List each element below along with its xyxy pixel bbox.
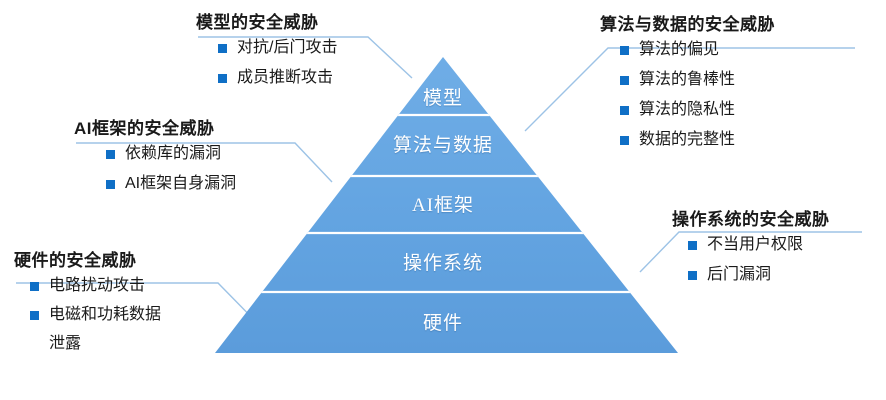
- bullet-square-icon: [620, 136, 629, 145]
- list-item: 算法的隐私性: [620, 95, 775, 125]
- list-item-label: 数据的完整性: [639, 125, 735, 155]
- list-item: 后门漏洞: [688, 260, 830, 290]
- list-item-label: 不当用户权限: [707, 230, 803, 260]
- bullet-square-icon: [620, 46, 629, 55]
- list-item: 算法的偏见: [620, 35, 775, 65]
- callout-os-items: 不当用户权限 后门漏洞: [688, 230, 830, 290]
- bullet-square-icon: [106, 180, 115, 189]
- bullet-square-icon: [688, 241, 697, 250]
- list-item-continuation: 泄露: [30, 329, 161, 358]
- bullet-square-icon: [218, 74, 227, 83]
- callout-framework-heading: AI框架的安全威胁: [74, 114, 236, 139]
- bullet-square-icon: [30, 311, 39, 320]
- list-item-label: AI框架自身漏洞: [125, 169, 236, 199]
- list-item: 算法的鲁棒性: [620, 65, 775, 95]
- bullet-square-icon: [620, 106, 629, 115]
- list-item-label: 算法的偏见: [639, 35, 719, 65]
- callout-os: 操作系统的安全威胁 不当用户权限 后门漏洞: [672, 205, 830, 290]
- list-item: 电磁和功耗数据: [30, 300, 161, 329]
- list-item-label: 依赖库的漏洞: [125, 139, 221, 169]
- callout-model-heading: 模型的安全威胁: [196, 8, 337, 33]
- list-item: 对抗/后门攻击: [218, 33, 337, 63]
- callout-model-items: 对抗/后门攻击 成员推断攻击: [218, 33, 337, 93]
- callout-hardware: 硬件的安全威胁 电路扰动攻击 电磁和功耗数据 泄露: [14, 246, 161, 358]
- list-item: AI框架自身漏洞: [106, 169, 236, 199]
- callout-framework: AI框架的安全威胁 依赖库的漏洞 AI框架自身漏洞: [74, 114, 236, 199]
- bullet-spacer: [30, 340, 39, 349]
- list-item-label: 电路扰动攻击: [49, 271, 145, 300]
- callout-algorithm: 算法与数据的安全威胁 算法的偏见 算法的鲁棒性 算法的隐私性 数据的完整性: [600, 10, 775, 155]
- callout-framework-items: 依赖库的漏洞 AI框架自身漏洞: [106, 139, 236, 199]
- list-item-label: 算法的隐私性: [639, 95, 735, 125]
- bullet-square-icon: [106, 150, 115, 159]
- list-item-label: 电磁和功耗数据: [49, 300, 161, 329]
- list-item: 依赖库的漏洞: [106, 139, 236, 169]
- bullet-square-icon: [620, 76, 629, 85]
- list-item-label: 后门漏洞: [707, 260, 771, 290]
- diagram-canvas: 模型 算法与数据 AI框架 操作系统 硬件 模型的安全威胁 对抗/后门攻击 成员…: [0, 0, 886, 400]
- callout-hardware-items: 电路扰动攻击 电磁和功耗数据 泄露: [30, 271, 161, 358]
- list-item-label: 算法的鲁棒性: [639, 65, 735, 95]
- list-item: 数据的完整性: [620, 125, 775, 155]
- list-item: 电路扰动攻击: [30, 271, 161, 300]
- bullet-square-icon: [688, 271, 697, 280]
- list-item-label: 成员推断攻击: [237, 63, 333, 93]
- callout-os-heading: 操作系统的安全威胁: [672, 205, 830, 230]
- callout-hardware-heading: 硬件的安全威胁: [14, 246, 161, 271]
- list-item: 成员推断攻击: [218, 63, 337, 93]
- list-item-label: 对抗/后门攻击: [237, 33, 337, 63]
- list-item: 不当用户权限: [688, 230, 830, 260]
- list-item-label: 泄露: [49, 329, 81, 358]
- bullet-square-icon: [30, 282, 39, 291]
- callout-algorithm-heading: 算法与数据的安全威胁: [600, 10, 775, 35]
- bullet-square-icon: [218, 44, 227, 53]
- callout-model: 模型的安全威胁 对抗/后门攻击 成员推断攻击: [196, 8, 337, 93]
- callout-algorithm-items: 算法的偏见 算法的鲁棒性 算法的隐私性 数据的完整性: [620, 35, 775, 155]
